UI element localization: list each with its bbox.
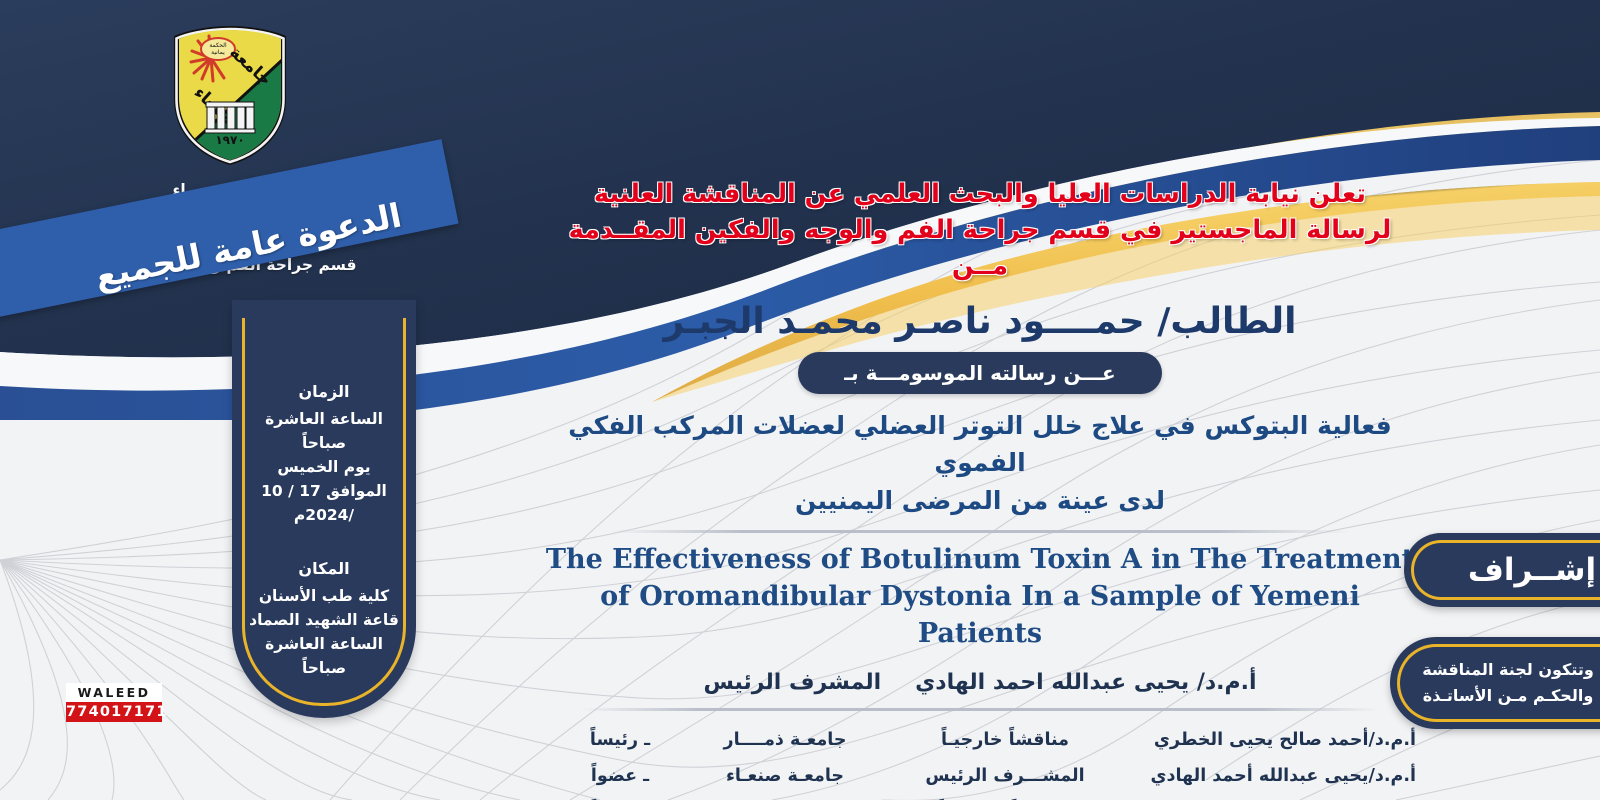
thesis-title-arabic: فعالية البتوكس في علاج خلل التوتر العضلي… [540, 407, 1420, 520]
designer-credit-tag: WALEED 774017171 [66, 683, 162, 722]
committee-member-university: جامعـة ذمــــار [680, 723, 890, 759]
announcement-line-1: تعلن نيابة الدراسات العليا والبحث العلمي… [540, 176, 1420, 212]
committee-member-rank: ـ عضواً [560, 795, 680, 800]
place-college: كلية طب الأسنان [246, 584, 402, 608]
committee-badge-label: وتتكون لجنة المناقشة والحكـم مـن الأساتـ… [1390, 637, 1600, 729]
logo-year-label: ١٩٧٠ [215, 133, 244, 147]
committee-member-rank: ـ عضواً [560, 759, 680, 795]
committee-member-role: المشـــرف الرئيس [890, 759, 1120, 795]
committee-member-name: أ.م.د/يحيى عبدالله أحمد الهادي [1120, 759, 1420, 795]
announcement-line-2: لرسالة الماجستير في قسم جراحة الفم والوج… [540, 212, 1420, 284]
designer-phone: 774017171 [66, 702, 162, 722]
thesis-title-english: The Effectiveness of Botulinum Toxin A i… [540, 542, 1420, 652]
committee-member-university: جامعـة صنعـاء [680, 795, 890, 800]
supervisor-name: أ.م.د/ يحيى عبدالله احمد الهادي [915, 670, 1256, 695]
place-header: المكان [246, 557, 402, 582]
event-place-group: المكان كلية طب الأسنان قاعة الشهيد الصما… [246, 557, 402, 680]
table-row: د/ تغريد أحمد محمد الكـبسي مناقشاً داخلي… [540, 795, 1420, 800]
svg-text:الحكمة: الحكمة [209, 42, 227, 49]
thesis-en-line-2: of Oromandibular Dystonia In a Sample of… [540, 579, 1420, 652]
sanaa-university-shield-logo: الحكمة يمانية جامعة صنعاء [167, 24, 293, 166]
student-name-line: الطالب/ حمــــود ناصـر محمـد الجبـر [540, 301, 1420, 342]
time-header: الزمان [246, 380, 402, 405]
time-value: الساعة العاشرة صباحاً [246, 407, 402, 455]
main-supervisor-line: أ.م.د/ يحيى عبدالله احمد الهادي المشرف ا… [540, 670, 1420, 695]
event-time-group: الزمان الساعة العاشرة صباحاً يوم الخميس … [246, 380, 402, 527]
committee-member-role: مناقشاً خارجيـاً [890, 723, 1120, 759]
event-details-card: الزمان الساعة العاشرة صباحاً يوم الخميس … [232, 300, 416, 718]
place-hall: قاعة الشهيد الصماد [246, 608, 402, 632]
thesis-ar-line-1: فعالية البتوكس في علاج خلل التوتر العضلي… [540, 407, 1420, 482]
announcement-text: تعلن نيابة الدراسات العليا والبحث العلمي… [540, 176, 1420, 285]
table-row: أ.م.د/أحمد صالح يحيى الخطري مناقشاً خارج… [540, 723, 1420, 759]
main-content-column: تعلن نيابة الدراسات العليا والبحث العلمي… [540, 176, 1420, 800]
designer-name: WALEED [66, 683, 162, 702]
thesis-defense-poster: الحكمة يمانية جامعة صنعاء [0, 0, 1600, 800]
svg-text:يمانية: يمانية [211, 49, 225, 56]
committee-note-line-2: والحكـم مـن الأساتـذة [1422, 683, 1594, 709]
supervision-badge-label: إشــراف [1404, 533, 1600, 607]
committee-member-role: مناقشاً داخليـــاً [890, 795, 1120, 800]
time-day: يوم الخميس [246, 455, 402, 479]
committee-table: أ.م.د/أحمد صالح يحيى الخطري مناقشاً خارج… [540, 723, 1420, 800]
committee-note-badge: وتتكون لجنة المناقشة والحكـم مـن الأساتـ… [1390, 637, 1600, 729]
committee-member-university: جامعـة صنعـاء [680, 759, 890, 795]
thesis-ar-line-2: لدى عينة من المرضى اليمنيين [540, 482, 1420, 520]
place-time: الساعة العاشرة صباحاً [246, 632, 402, 680]
supervision-badge: إشــراف [1404, 533, 1600, 607]
thesis-en-line-1: The Effectiveness of Botulinum Toxin A i… [540, 542, 1420, 579]
committee-member-name: د/ تغريد أحمد محمد الكـبسي [1120, 795, 1420, 800]
divider-rule-top [610, 530, 1350, 533]
divider-rule-bottom [580, 708, 1380, 711]
table-row: أ.م.د/يحيى عبدالله أحمد الهادي المشـــرف… [540, 759, 1420, 795]
thesis-label-pill: عـــن رسالته الموسومـــة بـ [798, 352, 1161, 394]
time-date: الموافق 17 / 10 /2024م [246, 479, 402, 527]
supervisor-role: المشرف الرئيس [703, 670, 881, 695]
committee-note-line-1: وتتكون لجنة المناقشة [1422, 657, 1594, 683]
committee-member-rank: ـ رئيساً [560, 723, 680, 759]
committee-member-name: أ.م.د/أحمد صالح يحيى الخطري [1120, 723, 1420, 759]
